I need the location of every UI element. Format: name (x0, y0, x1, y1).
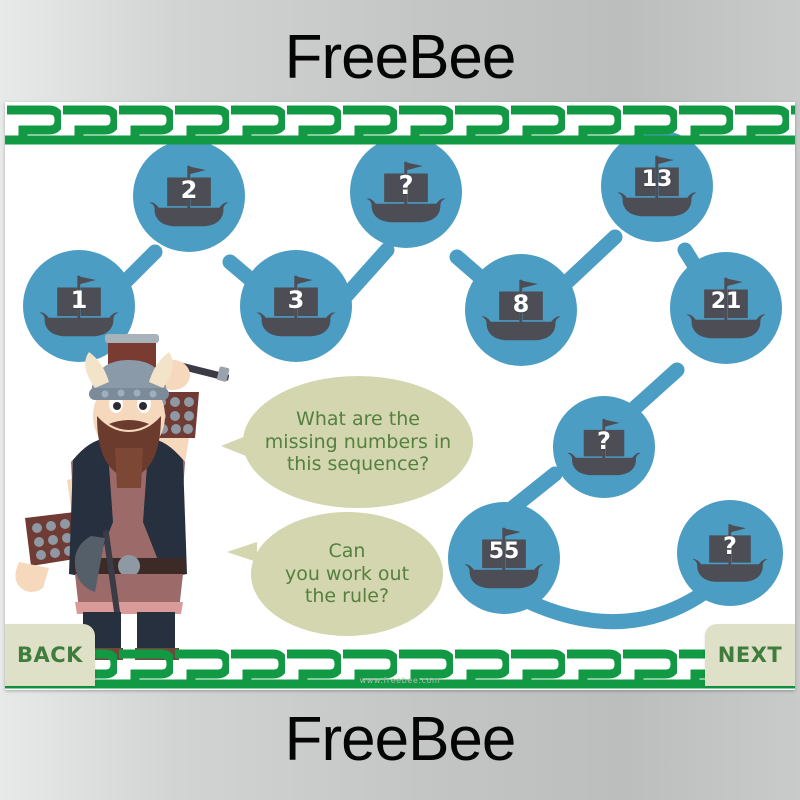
sequence-node-4-label: ? (350, 171, 462, 201)
speech-bubble-question-line2: missing numbers in (265, 431, 451, 453)
sequence-node-9[interactable]: 55 (448, 502, 560, 614)
sequence-node-2-label: 2 (133, 176, 245, 204)
sequence-node-5-label: 8 (465, 290, 577, 318)
speech-bubble-question: What are the missing numbers in this seq… (243, 376, 473, 508)
back-button-label: BACK (17, 643, 83, 667)
sequence-node-7-label: 21 (670, 289, 782, 314)
sequence-node-5[interactable]: 8 (465, 254, 577, 366)
next-button[interactable]: NEXT (705, 624, 795, 686)
sequence-node-3-label: 3 (240, 286, 352, 314)
next-button-label: NEXT (718, 643, 782, 667)
speech-bubble-rule-line2: you work out (285, 563, 409, 585)
speech-bubble-question-line3: this sequence? (265, 453, 451, 475)
speech-bubble-question-tail (221, 434, 251, 458)
sequence-node-3[interactable]: 3 (240, 250, 352, 362)
speech-bubble-question-line1: What are the (265, 408, 451, 430)
sequence-node-4[interactable]: ? (350, 136, 462, 248)
slide-card: 1 2 (5, 102, 795, 690)
sequence-node-1-label: 1 (23, 286, 135, 314)
sequence-node-2[interactable]: 2 (133, 140, 245, 252)
braid-border-top (5, 102, 795, 148)
sequence-node-10[interactable]: ? (677, 500, 783, 606)
page-title-bottom: FreeBee (0, 704, 800, 776)
sequence-node-10-label: ? (677, 532, 783, 560)
viking-character (13, 330, 243, 660)
sequence-node-8-label: ? (553, 427, 655, 455)
back-button[interactable]: BACK (5, 624, 95, 686)
sequence-node-8[interactable]: ? (553, 396, 655, 498)
speech-bubble-rule: Can you work out the rule? (251, 512, 443, 636)
speech-bubble-rule-line1: Can (285, 540, 409, 562)
page-title-top: FreeBee (0, 22, 800, 94)
sequence-node-7[interactable]: 21 (670, 252, 782, 364)
watermark: www.freebee.com (5, 676, 795, 685)
sequence-node-9-label: 55 (448, 539, 560, 564)
sequence-node-6-label: 13 (601, 167, 713, 192)
speech-bubble-rule-tail (227, 542, 257, 562)
speech-bubble-rule-line3: the rule? (285, 585, 409, 607)
